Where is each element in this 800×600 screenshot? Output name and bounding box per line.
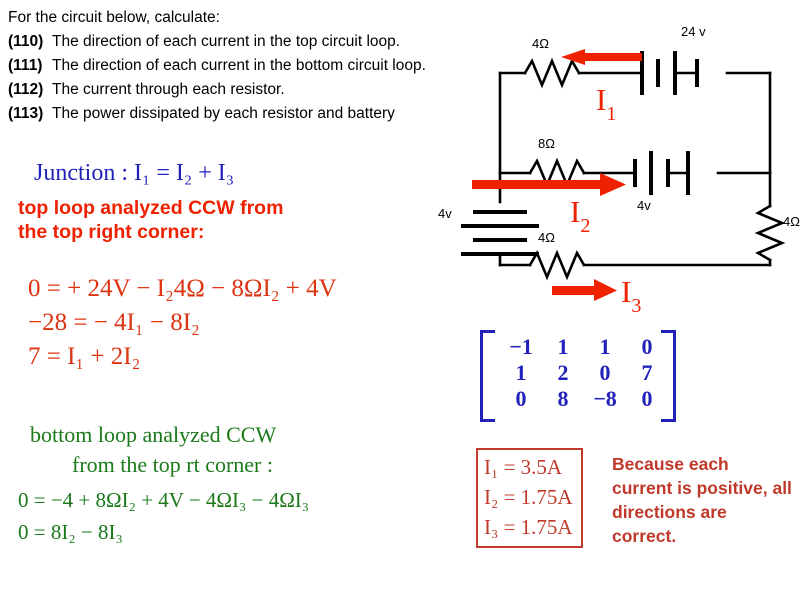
resistor-top-4ohm-zigzag xyxy=(525,61,579,85)
bottom-loop-equations: 0 = −4 + 8ΩI₂ + 4V − 4ΩI₃ − 4ΩI₃ 0 = 8I₂… xyxy=(18,484,309,548)
resistor-right-4ohm-zigzag xyxy=(758,206,782,260)
junction-label: Junction : xyxy=(34,160,128,186)
bottom-loop-description: bottom loop analyzed CCW from the top rt… xyxy=(30,420,276,480)
matrix-cell: 1 xyxy=(584,334,626,360)
problem-item-111-text: The direction of each current in the bot… xyxy=(52,57,426,74)
problem-item-112-number: (112) xyxy=(8,78,52,102)
battery-left-4v-label: 4v xyxy=(438,206,452,221)
matrix-row: −1 1 1 0 xyxy=(500,334,668,360)
top-loop-equation-3: 7 = I₁ + 2I₂ xyxy=(28,340,337,374)
matrix-cell: 8 xyxy=(542,386,584,412)
bottom-loop-line-1: bottom loop analyzed CCW xyxy=(30,420,276,450)
answers-box: I₁ = 3.5A I₂ = 1.75A I₃ = 1.75A xyxy=(476,448,583,548)
matrix-row: 1 2 0 7 xyxy=(500,360,668,386)
current-arrows: I1 I2 I3 xyxy=(472,49,642,314)
junction-equation: Junction : I₁ = I₂ + I₃ xyxy=(34,160,234,187)
top-loop-equation-2: −28 = − 4I₁ − 8I₂ xyxy=(28,306,337,340)
problem-item-113-text: The power dissipated by each resistor an… xyxy=(52,105,395,122)
current-i2-arrow xyxy=(472,173,626,196)
junction-expression: I₁ = I₂ + I₃ xyxy=(134,160,234,186)
answer-i1: I₁ = 3.5A xyxy=(484,452,573,482)
bottom-loop-line-2: from the top rt corner : xyxy=(30,450,276,480)
problem-item-110-number: (110) xyxy=(8,30,52,54)
answer-i2: I₂ = 1.75A xyxy=(484,482,573,512)
matrix-cell: 2 xyxy=(542,360,584,386)
resistor-right-4ohm-label: 4Ω xyxy=(783,214,800,229)
augmented-matrix: −1 1 1 0 1 2 0 7 0 8 −8 0 xyxy=(480,330,676,416)
matrix-cell: −1 xyxy=(500,334,542,360)
matrix-row: 0 8 −8 0 xyxy=(500,386,668,412)
top-loop-line-2: the top right corner: xyxy=(18,220,283,244)
matrix-cell: 0 xyxy=(584,360,626,386)
top-loop-description: top loop analyzed CCW from the top right… xyxy=(18,196,283,244)
current-i2-label: I2 xyxy=(570,194,590,237)
resistor-middle-8ohm-label: 8Ω xyxy=(538,136,555,151)
resistor-bottom-4ohm-zigzag xyxy=(530,253,584,277)
problem-item-113-number: (113) xyxy=(8,102,52,126)
matrix-left-bracket xyxy=(480,330,495,422)
problem-item-110-text: The direction of each current in the top… xyxy=(52,33,400,50)
resistor-bottom-4ohm-label: 4Ω xyxy=(538,230,555,245)
top-loop-line-1: top loop analyzed CCW from xyxy=(18,196,283,220)
top-loop-equations: 0 = + 24V − I₂4Ω − 8ΩI₂ + 4V −28 = − 4I₁… xyxy=(28,272,337,374)
matrix-cell: 1 xyxy=(542,334,584,360)
matrix-cell: 0 xyxy=(500,386,542,412)
matrix-cell: −8 xyxy=(584,386,626,412)
battery-middle-4v-label: 4v xyxy=(637,198,651,213)
circuit-diagram: 4Ω 24 v 8Ω 4v 4v 4Ω 4Ω I1 I2 I3 xyxy=(430,14,800,314)
answers-note: Because each current is positive, all di… xyxy=(612,452,792,548)
bottom-loop-equation-2: 0 = 8I₂ − 8I₃ xyxy=(18,516,309,548)
matrix-cell: 1 xyxy=(500,360,542,386)
problem-item-111-number: (111) xyxy=(8,54,52,78)
problem-item-112-text: The current through each resistor. xyxy=(52,81,285,98)
current-i3-arrow xyxy=(552,279,617,301)
current-i1-label: I1 xyxy=(596,82,616,125)
current-i3-label: I3 xyxy=(621,274,641,314)
answer-i3: I₃ = 1.75A xyxy=(484,512,573,542)
bottom-loop-equation-1: 0 = −4 + 8ΩI₂ + 4V − 4ΩI₃ − 4ΩI₃ xyxy=(18,484,309,516)
matrix-table: −1 1 1 0 1 2 0 7 0 8 −8 0 xyxy=(500,334,668,412)
battery-24v-label: 24 v xyxy=(681,24,706,39)
matrix-right-bracket xyxy=(661,330,676,422)
top-loop-equation-1: 0 = + 24V − I₂4Ω − 8ΩI₂ + 4V xyxy=(28,272,337,306)
resistor-top-4ohm-label: 4Ω xyxy=(532,36,549,51)
